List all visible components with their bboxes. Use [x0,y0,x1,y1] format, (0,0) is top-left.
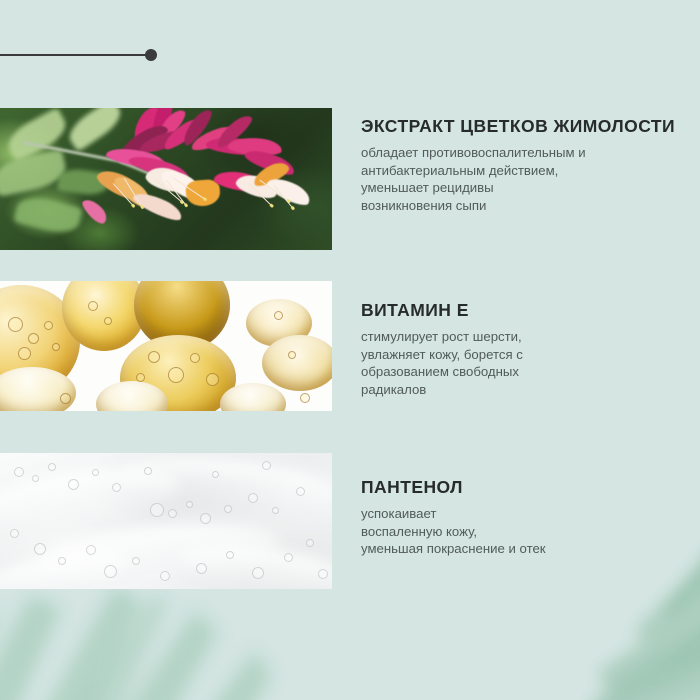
rule-dot [145,49,157,61]
ingredient-title: ЭКСТРАКТ ЦВЕТКОВ ЖИМОЛОСТИ [361,116,691,137]
ingredient-image-vitamin-e [0,281,332,411]
ingredient-image-panthenol [0,453,332,589]
ingredient-description: обладает противовоспалительным и антибак… [361,144,691,214]
ingredient-copy-honeysuckle: ЭКСТРАКТ ЦВЕТКОВ ЖИМОЛОСТИ обладает прот… [361,116,691,214]
infographic-page: ЭКСТРАКТ ЦВЕТКОВ ЖИМОЛОСТИ обладает прот… [0,0,700,700]
ingredient-description: успокаивает воспаленную кожу, уменьшая п… [361,505,691,557]
ingredient-description: стимулирует рост шерсти, увлажняет кожу,… [361,328,691,398]
rule-line [0,54,148,56]
ingredient-image-honeysuckle [0,108,332,250]
ingredient-copy-panthenol: ПАНТЕНОЛ успокаивает воспаленную кожу, у… [361,477,691,558]
top-rule-with-dot [0,48,158,62]
ingredient-title: ВИТАМИН Е [361,300,691,321]
ingredient-copy-vitamin-e: ВИТАМИН Е стимулирует рост шерсти, увлаж… [361,300,691,398]
ingredient-title: ПАНТЕНОЛ [361,477,691,498]
